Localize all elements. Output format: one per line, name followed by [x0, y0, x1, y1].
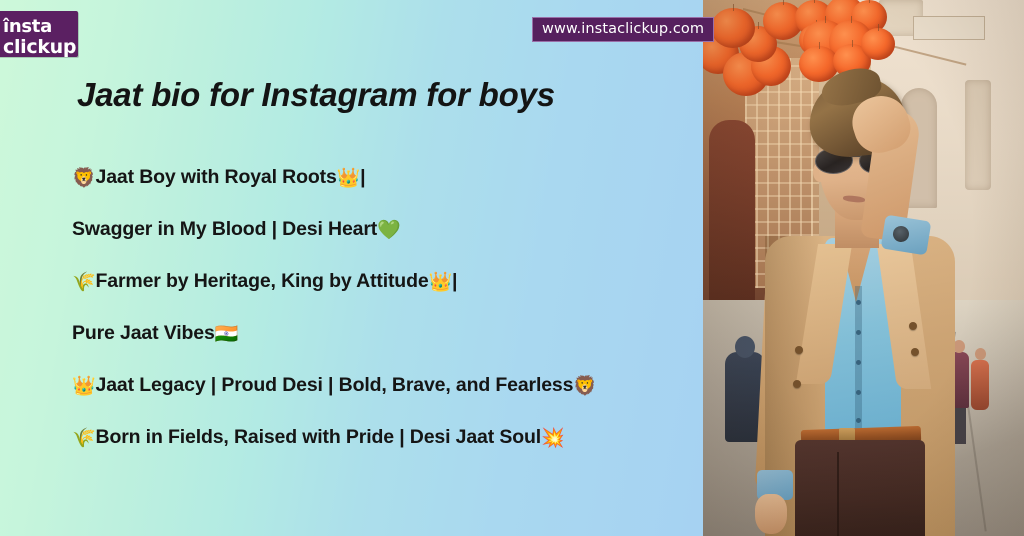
- photo-subject-jacket-button: [909, 322, 917, 330]
- website-url-badge[interactable]: www.instaclickup.com: [532, 17, 714, 42]
- sheaf-of-rice-icon: 🌾: [72, 273, 96, 292]
- bio-line-text: Farmer by Heritage, King by Attitude: [96, 272, 429, 292]
- photo-subject-shirt-button: [856, 300, 861, 305]
- photo-subject-shirt-button: [856, 418, 861, 423]
- photo-subject-shirt-button: [856, 330, 861, 335]
- sheaf-of-rice-icon: 🌾: [72, 429, 96, 448]
- bio-line-suffix: |: [452, 272, 457, 292]
- brand-logo-line-2: clickup: [0, 36, 78, 57]
- photo-subject-left-hand: [755, 494, 787, 534]
- photo-lantern: [861, 28, 895, 60]
- bio-line-text: Jaat Legacy | Proud Desi | Bold, Brave, …: [96, 376, 574, 396]
- lion-icon: 🦁: [573, 377, 597, 396]
- india-flag-icon: 🇮🇳: [215, 325, 239, 344]
- bio-line-suffix: |: [360, 168, 365, 188]
- crown-icon: 👑: [72, 377, 96, 396]
- list-item: 🦁 Jaat Boy with Royal Roots 👑 |: [72, 152, 682, 204]
- photo-window: [965, 80, 991, 190]
- crown-icon: 👑: [337, 169, 361, 188]
- crown-icon: 👑: [429, 273, 453, 292]
- green-heart-icon: 💚: [377, 221, 401, 240]
- brand-logo-line-1: însta: [0, 11, 78, 36]
- poster-canvas: însta clickup www.instaclickup.com Jaat …: [0, 0, 1024, 536]
- photo-subject-jacket-button: [795, 346, 803, 354]
- list-item: Pure Jaat Vibes 🇮🇳: [72, 308, 682, 360]
- photo-subject-trousers: [795, 440, 925, 536]
- brand-logo[interactable]: însta clickup: [0, 11, 78, 57]
- list-item: Swagger in My Blood | Desi Heart 💚: [72, 204, 682, 256]
- photo-lantern: [711, 8, 755, 48]
- bio-line-text: Jaat Boy with Royal Roots: [96, 168, 337, 188]
- photo-pedestrian: [735, 336, 755, 358]
- photo-subject-shirt-button: [856, 390, 861, 395]
- bio-list: 🦁 Jaat Boy with Royal Roots 👑 | Swagger …: [72, 152, 682, 464]
- list-item: 🌾 Born in Fields, Raised with Pride | De…: [72, 412, 682, 464]
- collision-icon: 💥: [541, 429, 565, 448]
- bio-line-text: Pure Jaat Vibes: [72, 324, 215, 344]
- list-item: 👑 Jaat Legacy | Proud Desi | Bold, Brave…: [72, 360, 682, 412]
- photo-pedestrian: [975, 348, 986, 360]
- bio-line-text: Born in Fields, Raised with Pride | Desi…: [96, 428, 541, 448]
- photo-shop-sign: [913, 16, 985, 40]
- photo-subject-jacket-button: [793, 380, 801, 388]
- photo-subject-jacket-button: [911, 348, 919, 356]
- photo-doorway: [709, 120, 755, 300]
- photo-pedestrian: [971, 360, 989, 410]
- page-title: Jaat bio for Instagram for boys: [77, 76, 555, 114]
- photo-subject-shirt-button: [856, 360, 861, 365]
- bio-line-text: Swagger in My Blood | Desi Heart: [72, 220, 377, 240]
- list-item: 🌾 Farmer by Heritage, King by Attitude 👑…: [72, 256, 682, 308]
- lion-icon: 🦁: [72, 169, 96, 188]
- hero-photo: [703, 0, 1024, 536]
- photo-subject-trouser-seam: [837, 452, 839, 536]
